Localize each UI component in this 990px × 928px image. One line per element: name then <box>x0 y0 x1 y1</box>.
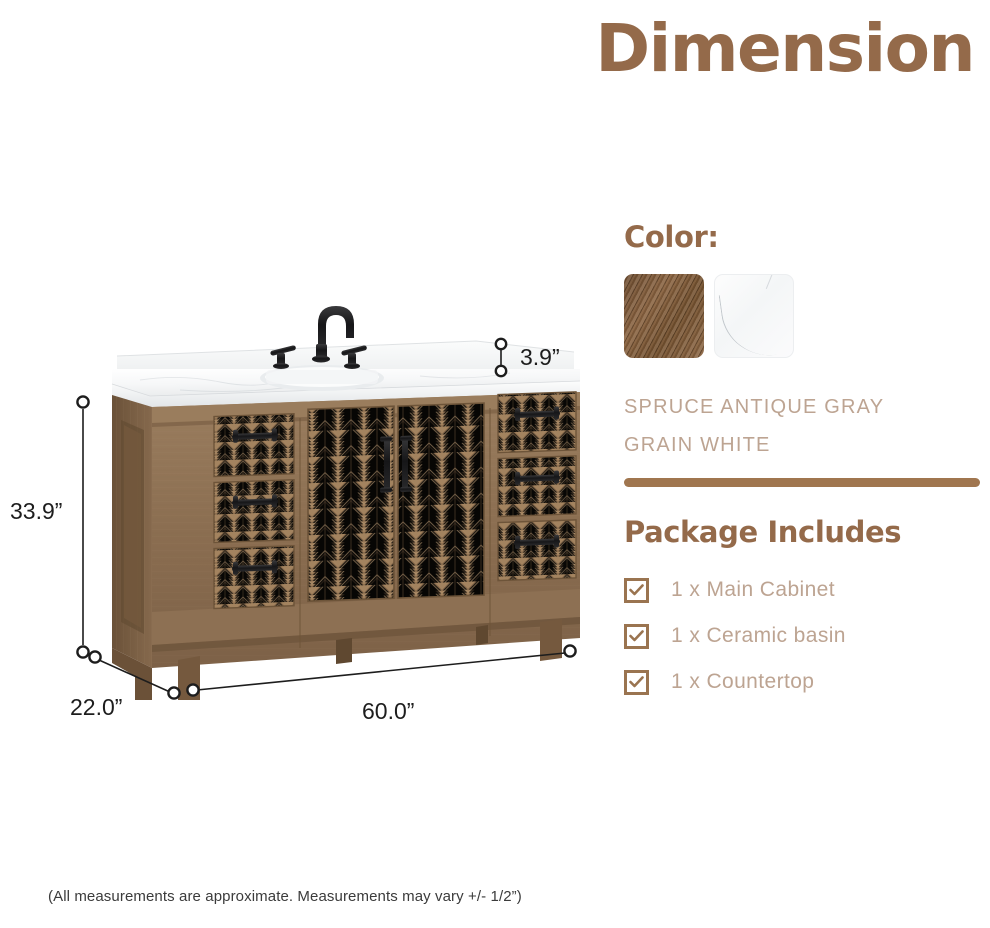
marble-swatch[interactable] <box>714 274 794 358</box>
center-door-left <box>308 406 394 601</box>
drawer-right-3 <box>498 520 576 581</box>
faucet <box>270 306 367 369</box>
package-list: 1 x Main Cabinet 1 x Ceramic basin 1 x C… <box>624 567 980 705</box>
list-item[interactable]: 1 x Main Cabinet <box>624 567 980 613</box>
measurement-disclaimer: (All measurements are approximate. Measu… <box>48 888 522 905</box>
endpoint-thickness-bottom <box>496 366 506 376</box>
dimension-label-depth: 22.0” <box>70 694 122 721</box>
dimension-infographic: Dimension <box>0 0 990 928</box>
package-item-label: 1 x Ceramic basin <box>671 624 846 648</box>
drawer-right-1 <box>498 392 576 453</box>
color-name-line-2: GRAIN WHITE <box>624 426 980 464</box>
check-icon[interactable] <box>624 578 649 603</box>
color-heading: Color: <box>624 220 980 254</box>
endpoint-thickness-top <box>496 339 506 349</box>
section-divider <box>624 478 980 487</box>
dimension-label-width: 60.0” <box>362 698 414 725</box>
color-swatch-row <box>624 274 980 358</box>
check-icon[interactable] <box>624 670 649 695</box>
leg-inner-right <box>476 625 488 645</box>
endpoint-width-end <box>564 645 575 656</box>
package-item-label: 1 x Countertop <box>671 670 814 694</box>
dimension-label-thickness: 3.9” <box>520 344 560 371</box>
drawer-left-1 <box>214 414 294 477</box>
color-name-line-1: SPRUCE ANTIQUE GRAY <box>624 388 980 426</box>
drawer-left-3 <box>214 546 294 609</box>
drawer-right-2 <box>498 456 576 517</box>
drawer-left-2 <box>214 480 294 543</box>
dimension-label-height: 33.9” <box>10 498 62 525</box>
right-drawer-stack <box>498 392 576 581</box>
info-panel: Color: SPRUCE ANTIQUE GRAY GRAIN WHITE P… <box>624 220 980 705</box>
package-item-label: 1 x Main Cabinet <box>671 578 835 602</box>
check-icon[interactable] <box>624 624 649 649</box>
endpoint-height-top <box>77 396 88 407</box>
endpoint-height-bottom <box>77 646 88 657</box>
endpoint-width-start <box>187 684 198 695</box>
list-item[interactable]: 1 x Ceramic basin <box>624 613 980 659</box>
left-drawer-stack <box>214 414 294 609</box>
center-door-right <box>398 403 484 598</box>
color-name-block: SPRUCE ANTIQUE GRAY GRAIN WHITE <box>624 388 980 464</box>
endpoint-depth-start <box>89 651 100 662</box>
package-heading: Package Includes <box>624 515 980 549</box>
endpoint-depth-end <box>168 687 179 698</box>
wood-swatch[interactable] <box>624 274 704 358</box>
list-item[interactable]: 1 x Countertop <box>624 659 980 705</box>
leg-center <box>336 638 352 664</box>
